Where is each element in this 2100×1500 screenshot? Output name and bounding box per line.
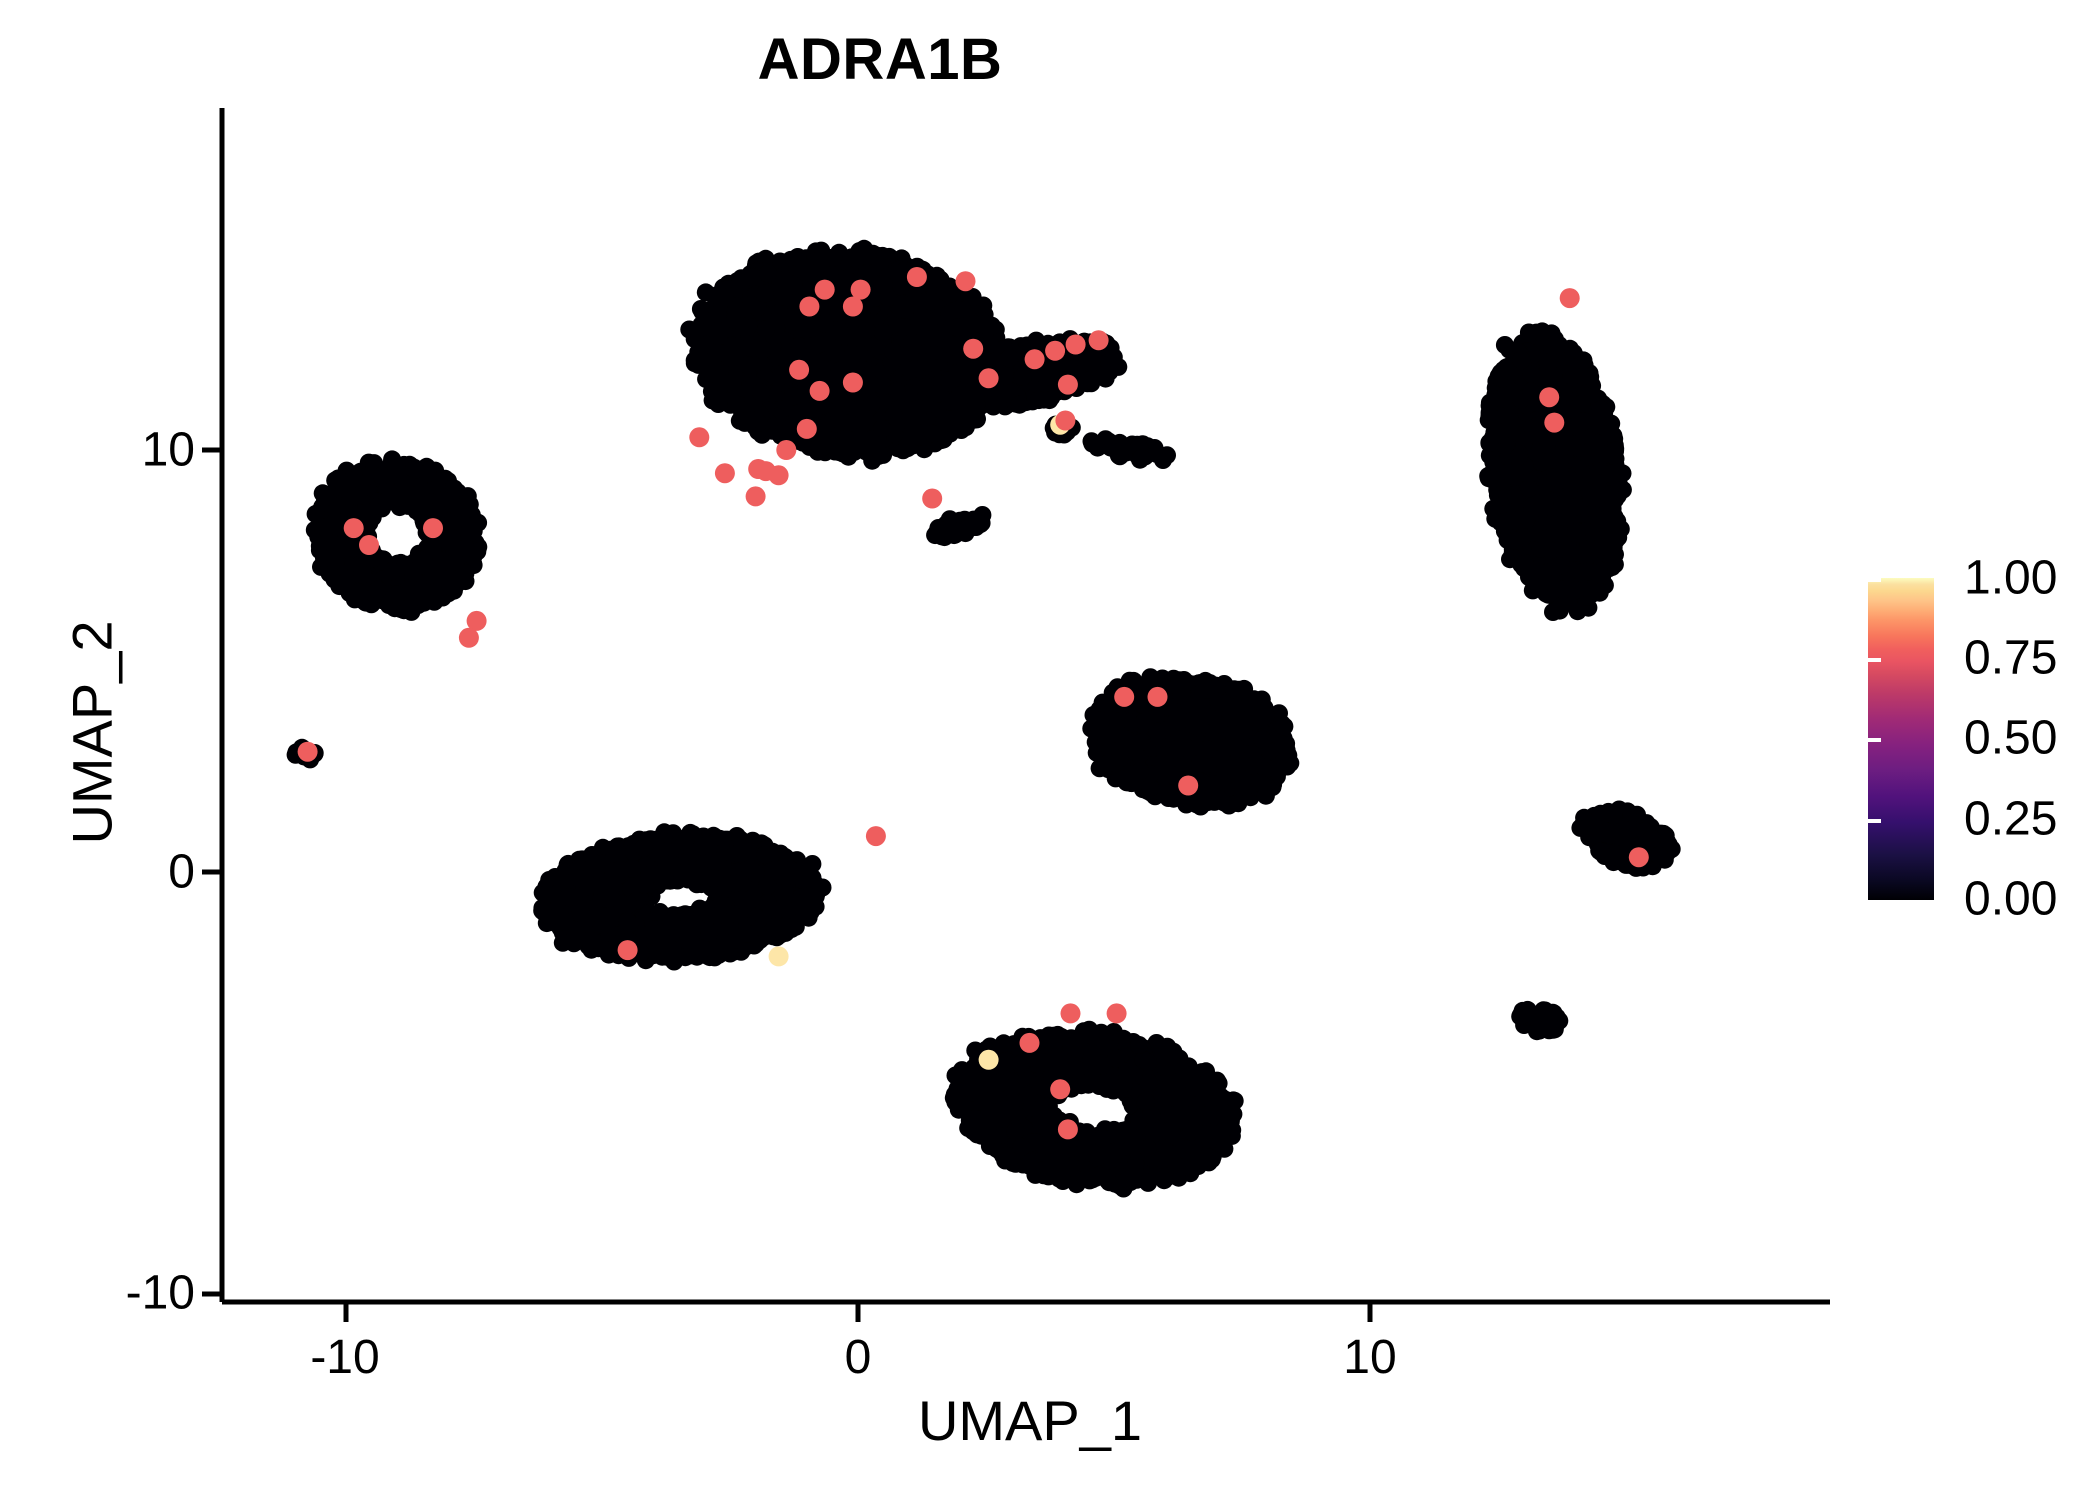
x-tick-label-0: 0 xyxy=(845,1330,872,1385)
scatter-plot-canvas xyxy=(0,0,2100,1500)
colorbar-label-0-75: 0.75 xyxy=(1964,631,2057,686)
colorbar-tick-left-4 xyxy=(1868,578,1881,582)
colorbar-label-0-25: 0.25 xyxy=(1964,792,2057,847)
y-tick-label-neg10: -10 xyxy=(30,1266,195,1321)
y-tick-label-10: 10 xyxy=(60,423,195,478)
x-tick-label-10: 10 xyxy=(1343,1330,1396,1385)
colorbar-legend: 1.00 0.75 0.50 0.25 0.00 xyxy=(1868,570,2088,910)
colorbar-tick-left-2 xyxy=(1868,738,1881,742)
colorbar-tick-left-1 xyxy=(1868,658,1881,662)
colorbar-tick-left-3 xyxy=(1868,819,1881,823)
colorbar-tick-right-2 xyxy=(2075,738,2088,742)
colorbar-label-1-00: 1.00 xyxy=(1964,551,2057,606)
x-axis-label: UMAP_1 xyxy=(860,1388,1200,1453)
colorbar-label-0-50: 0.50 xyxy=(1964,711,2057,766)
colorbar-tick-right-4 xyxy=(2075,578,2088,582)
x-tick-label-neg10: -10 xyxy=(310,1330,379,1385)
colorbar-label-0-00: 0.00 xyxy=(1964,872,2057,927)
colorbar-tick-right-1 xyxy=(2075,658,2088,662)
y-axis-label: UMAP_2 xyxy=(60,523,125,943)
chart-page: ADRA1B 10 0 -10 -10 0 10 UMAP_2 UMAP_1 1… xyxy=(0,0,2100,1500)
colorbar-tick-right-3 xyxy=(2075,819,2088,823)
data-points-layer xyxy=(287,240,1681,1198)
